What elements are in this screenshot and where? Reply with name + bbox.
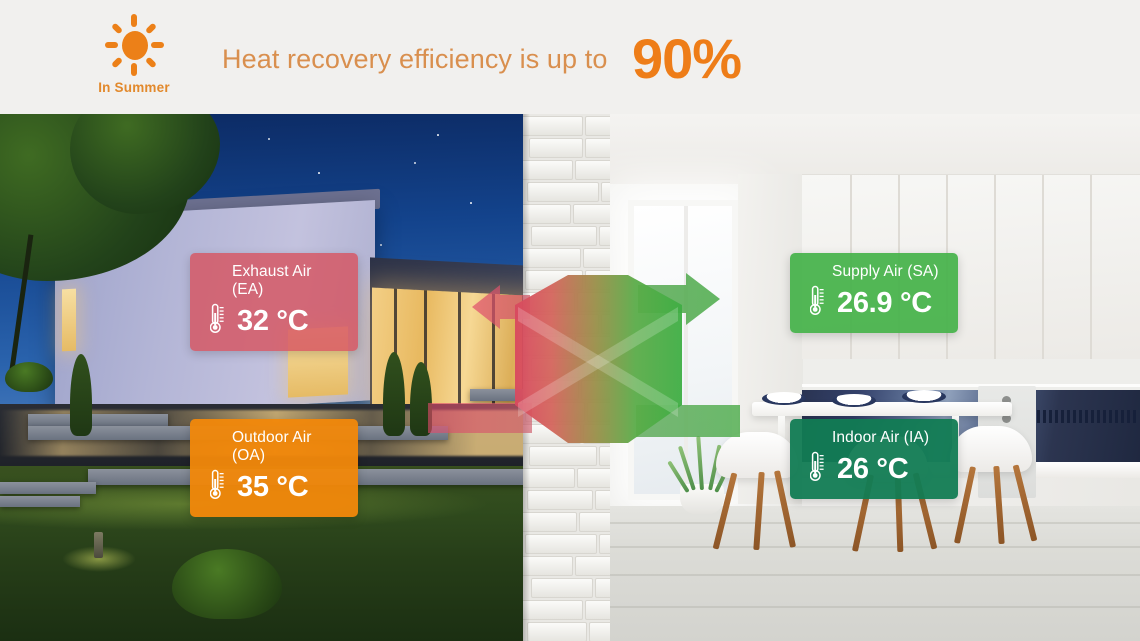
- brick: [525, 534, 597, 554]
- badge-title: Indoor Air (IA): [832, 429, 940, 447]
- star: [268, 138, 270, 140]
- grille-tooth: [1121, 410, 1124, 423]
- sun-ray: [111, 22, 123, 34]
- star: [470, 202, 472, 204]
- sun-core: [122, 31, 148, 60]
- brick: [573, 204, 615, 224]
- floor-plank: [610, 606, 1140, 608]
- cabinet-seam: [1042, 175, 1044, 359]
- star: [414, 162, 416, 164]
- grille-tooth: [1097, 410, 1100, 423]
- brick: [523, 512, 577, 532]
- brick: [527, 622, 587, 641]
- brick: [523, 204, 571, 224]
- badge-indoor-air[interactable]: Indoor Air (IA) 26 °C: [790, 419, 958, 499]
- thermometer-icon: [810, 285, 825, 321]
- garden-step: [28, 414, 168, 426]
- brick: [527, 490, 593, 510]
- badge-value: 26 °C: [837, 453, 908, 486]
- badge-title: Outdoor Air (OA): [232, 429, 340, 465]
- badge-value-row: 26 °C: [810, 451, 940, 487]
- table-plate: [832, 394, 876, 407]
- star: [318, 172, 320, 174]
- thermometer-icon: [210, 303, 225, 339]
- grille-tooth: [1109, 410, 1112, 423]
- grille-tooth: [1079, 410, 1082, 423]
- brick: [529, 138, 583, 158]
- grille-tooth: [1115, 410, 1118, 423]
- star: [437, 134, 439, 136]
- badge-outdoor-air[interactable]: Outdoor Air (OA) 35 °C: [190, 419, 358, 517]
- brick: [531, 578, 593, 598]
- grille-tooth: [1061, 410, 1064, 423]
- sun-ray: [105, 42, 118, 48]
- garden-step: [0, 496, 80, 507]
- badge-value-row: 35 °C: [210, 469, 340, 505]
- season-label: In Summer: [98, 80, 170, 95]
- brick: [575, 160, 615, 180]
- badge-value: 26.9 °C: [837, 287, 932, 320]
- path-light: [94, 532, 103, 558]
- grille-tooth: [1043, 410, 1046, 423]
- brick: [527, 182, 599, 202]
- badge-title: Supply Air (SA): [832, 263, 940, 281]
- exchanger-core: [515, 275, 682, 443]
- grille-tooth: [1067, 410, 1070, 423]
- grille-tooth: [1073, 410, 1076, 423]
- efficiency-percent: 90%: [632, 26, 741, 91]
- brick: [523, 160, 573, 180]
- wood-floor: [610, 506, 1140, 641]
- badge-value-row: 32 °C: [210, 303, 340, 339]
- hood-edge: [802, 384, 1140, 387]
- sun-ray: [145, 56, 157, 68]
- tagline-text: Heat recovery efficiency is up to: [222, 44, 607, 75]
- grille-tooth: [1103, 410, 1106, 423]
- grille-tooth: [1049, 410, 1052, 423]
- badge-supply-air[interactable]: Supply Air (SA) 26.9 °C: [790, 253, 958, 333]
- house-window: [62, 289, 76, 352]
- badge-title: Exhaust Air (EA): [232, 263, 340, 299]
- garden-step: [0, 482, 96, 494]
- table-plate: [902, 390, 946, 403]
- badge-value: 35 °C: [237, 471, 308, 504]
- badge-value-row: 26.9 °C: [810, 285, 940, 321]
- sun-ray: [131, 14, 137, 27]
- thermometer-icon: [210, 469, 225, 505]
- grille-tooth: [1133, 410, 1136, 423]
- infographic-stage: In Summer Heat recovery efficiency is up…: [0, 0, 1140, 641]
- brick: [523, 600, 583, 620]
- season-block: In Summer: [82, 14, 186, 95]
- sun-ray: [111, 56, 123, 68]
- grille-tooth: [1091, 410, 1094, 423]
- header-bar: In Summer Heat recovery efficiency is up…: [0, 0, 1140, 114]
- sun-ray: [151, 42, 164, 48]
- bush: [5, 362, 53, 392]
- brick: [523, 468, 575, 488]
- floor-plank: [610, 546, 1140, 548]
- grille-tooth: [1037, 410, 1040, 423]
- brick: [523, 556, 573, 576]
- floor-plank: [610, 574, 1140, 576]
- thermometer-icon: [810, 451, 825, 487]
- brick: [523, 116, 583, 136]
- brick: [575, 556, 615, 576]
- cabinet-seam: [1090, 175, 1092, 359]
- badge-value: 32 °C: [237, 305, 308, 338]
- cabinet-seam: [994, 175, 996, 359]
- bush: [172, 549, 282, 619]
- brick: [531, 226, 597, 246]
- grille-tooth: [1085, 410, 1088, 423]
- table-plate: [762, 392, 806, 405]
- sun-icon: [103, 14, 165, 76]
- grille-tooth: [1055, 410, 1058, 423]
- star: [380, 244, 382, 246]
- floor-plank: [610, 522, 1140, 524]
- outdoor-air-band: [428, 403, 532, 433]
- sun-ray: [145, 22, 157, 34]
- heat-exchanger-hexagon: [400, 255, 760, 460]
- sun-ray: [131, 63, 137, 76]
- dining-chair: [950, 426, 1032, 472]
- badge-exhaust-air[interactable]: Exhaust Air (EA) 32 °C: [190, 253, 358, 351]
- grille-tooth: [1127, 410, 1130, 423]
